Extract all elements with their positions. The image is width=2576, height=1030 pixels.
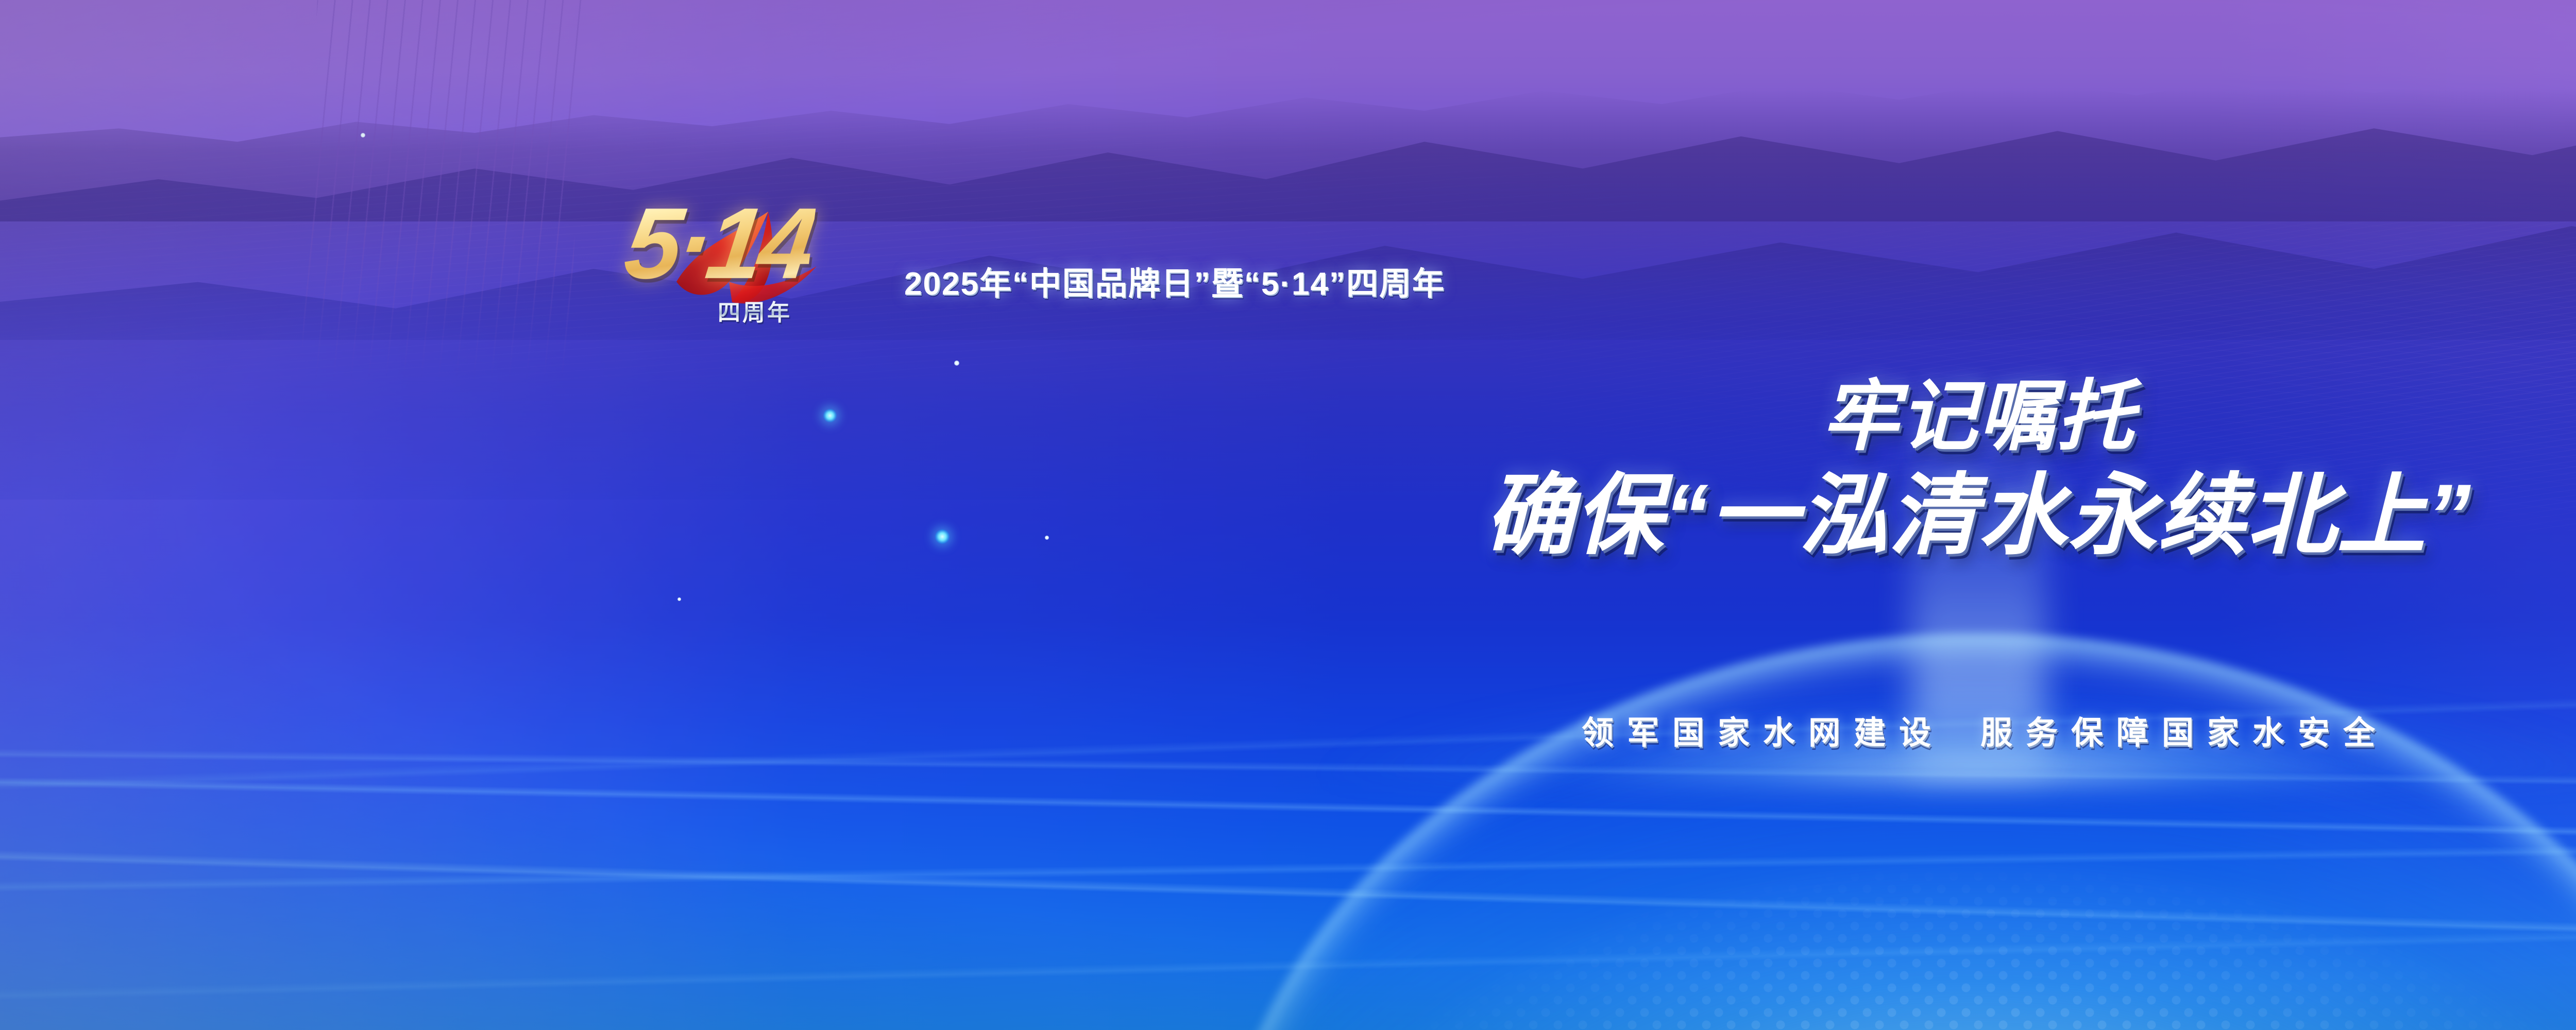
banner-stage: 5·14 四周年 2025年“中国品牌日”暨“5·14”四周年 — [0, 0, 2576, 1030]
anniversary-years-label: 四周年 — [718, 294, 792, 327]
banner-content: 5·14 四周年 2025年“中国品牌日”暨“5·14”四周年 — [0, 0, 2576, 1030]
anniversary-514-logo: 5·14 四周年 — [626, 193, 842, 322]
anniversary-numerals: 5·14 — [620, 193, 818, 294]
headline-line-2: 确保“一泓清水永续北上” — [0, 470, 2576, 562]
event-title-line: 2025年“中国品牌日”暨“5·14”四周年 — [904, 257, 1445, 304]
tagline-part-2: 服务保障国家水安全 — [1980, 715, 2388, 751]
headline-line-1: 牢记嘱托 — [0, 376, 2576, 456]
tagline-part-1: 领军国家水网建设 — [1582, 715, 1944, 751]
tagline-block: 领军国家水网建设服务保障国家水安全 — [0, 707, 2576, 753]
headline-block: 牢记嘱托 确保“一泓清水永续北上” — [0, 376, 2576, 562]
